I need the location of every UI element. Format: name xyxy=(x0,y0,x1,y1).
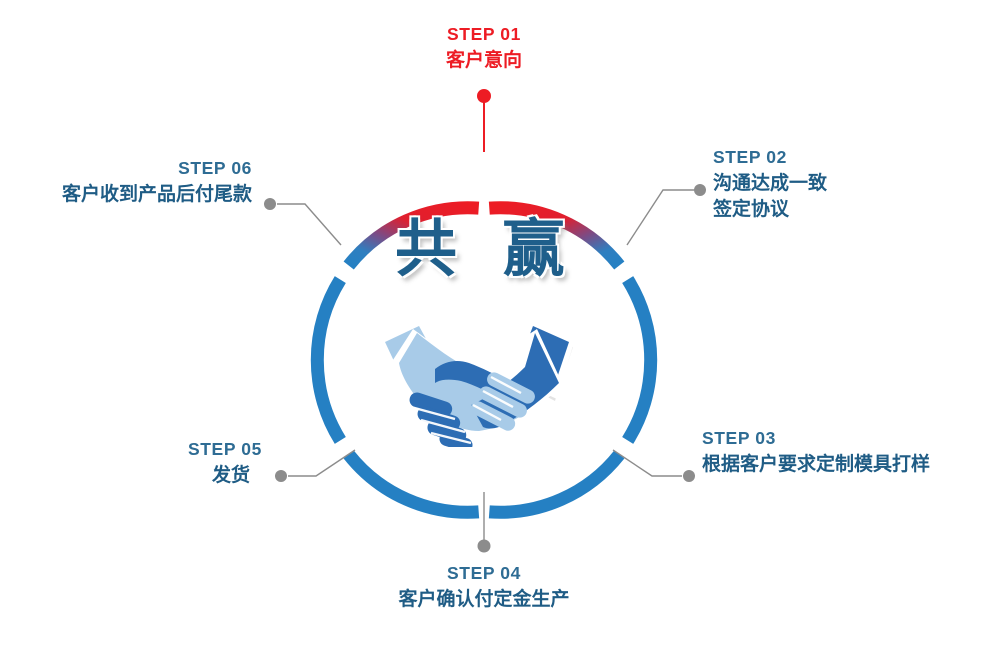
connector-step-04 xyxy=(478,492,491,553)
step-label-05[interactable]: STEP 05 发货 xyxy=(188,439,274,489)
connector-step-02 xyxy=(627,184,706,245)
center-slogan: 共 赢 xyxy=(395,218,575,280)
node-dot-step-04 xyxy=(478,540,491,553)
step-title-02-line2: 签定协议 xyxy=(713,197,827,223)
step-label-04[interactable]: STEP 04 客户确认付定金生产 xyxy=(384,563,584,613)
node-dot-step-03 xyxy=(683,470,695,482)
step-title-02-line1: 沟通达成一致 xyxy=(713,171,827,197)
step-number-04: STEP 04 xyxy=(384,563,584,583)
node-dot-step-06 xyxy=(264,198,276,210)
step-number-03: STEP 03 xyxy=(702,428,930,448)
connector-step-01 xyxy=(477,89,491,152)
step-label-03[interactable]: STEP 03 根据客户要求定制模具打样 xyxy=(702,428,930,478)
step-label-01[interactable]: STEP 01 客户意向 xyxy=(384,24,584,74)
ring-arc-03 xyxy=(489,455,619,513)
step-title-05: 发货 xyxy=(188,463,274,489)
step-number-02: STEP 02 xyxy=(713,147,827,167)
node-dot-step-01 xyxy=(477,89,491,103)
ring-arc-02 xyxy=(628,280,651,441)
step-number-06: STEP 06 xyxy=(40,158,252,178)
connector-step-03 xyxy=(613,450,695,482)
ring-arc-04 xyxy=(349,455,479,513)
step-title-03: 根据客户要求定制模具打样 xyxy=(702,452,930,478)
step-title-04: 客户确认付定金生产 xyxy=(384,587,584,613)
node-dot-step-05 xyxy=(275,470,287,482)
connector-step-05 xyxy=(275,450,355,482)
node-dot-step-02 xyxy=(694,184,706,196)
step-title-01: 客户意向 xyxy=(384,48,584,74)
infographic-canvas: 共 赢 xyxy=(0,0,1000,650)
step-label-06[interactable]: STEP 06 客户收到产品后付尾款 xyxy=(40,158,252,208)
step-label-02[interactable]: STEP 02 沟通达成一致 签定协议 xyxy=(713,147,827,222)
step-title-06: 客户收到产品后付尾款 xyxy=(40,182,252,208)
step-number-05: STEP 05 xyxy=(188,439,274,459)
step-number-01: STEP 01 xyxy=(384,24,584,44)
connector-step-06 xyxy=(264,198,341,245)
ring-arc-05 xyxy=(317,280,340,441)
handshake-icon xyxy=(370,315,602,447)
